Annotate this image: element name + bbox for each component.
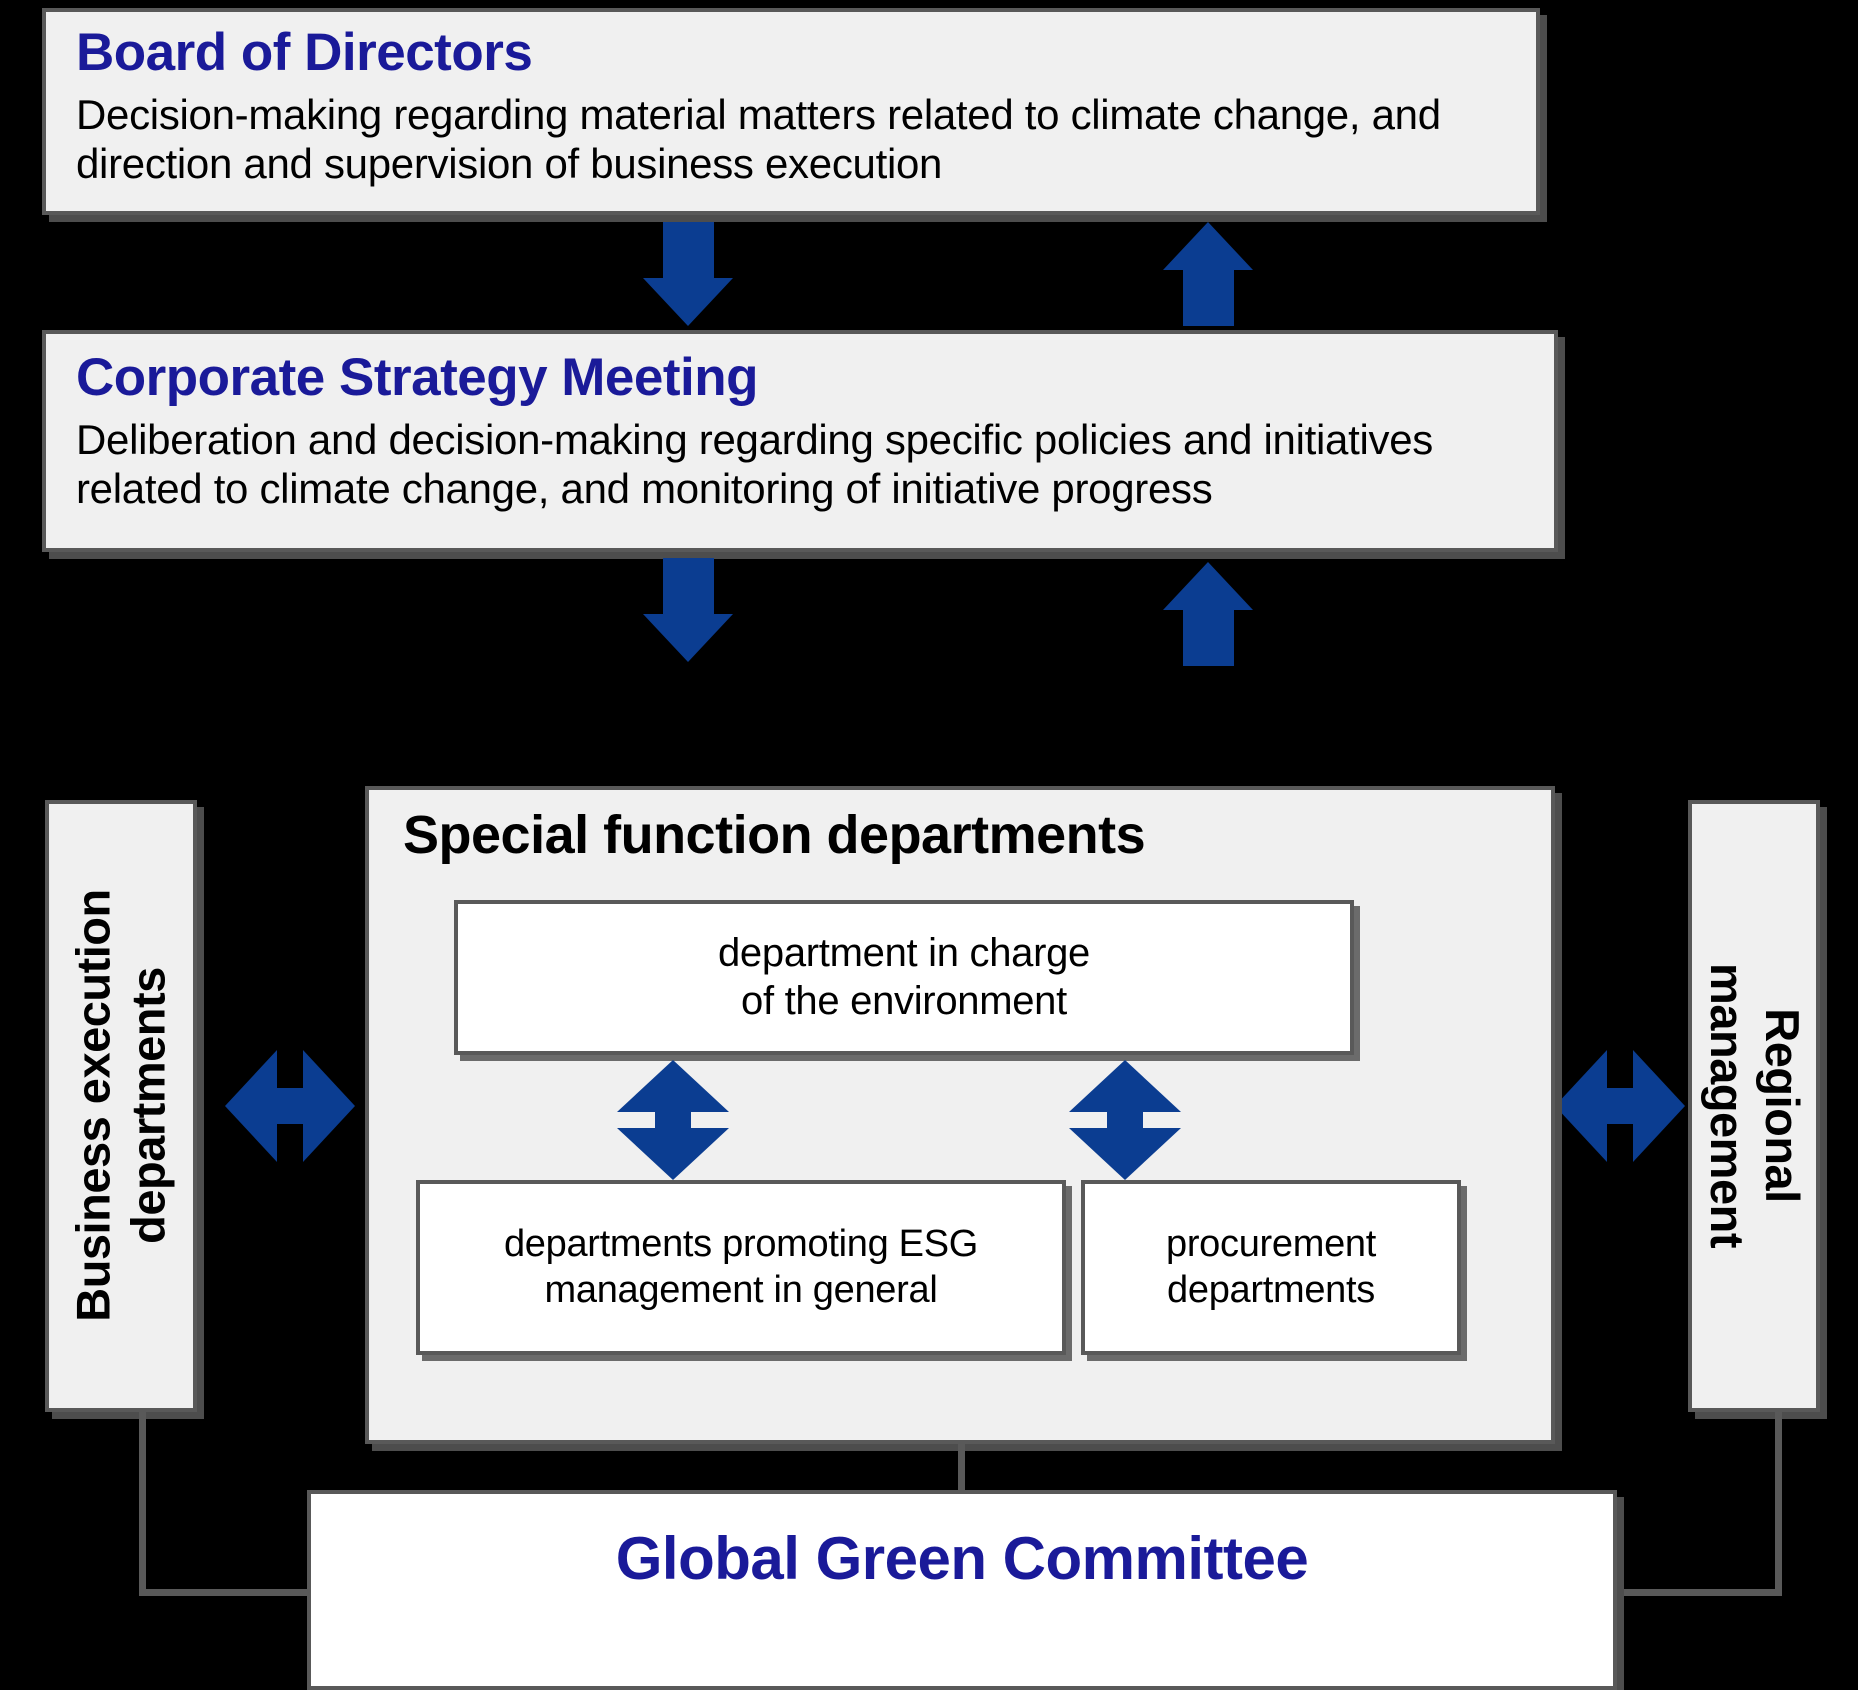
corporate-strategy-meeting-description: Deliberation and decision-making regardi…	[76, 416, 1556, 513]
arrow-right-head	[1633, 1050, 1685, 1162]
global-green-committee-heading: Global Green Committee	[311, 1528, 1613, 1589]
arrow-down-head	[1069, 1128, 1181, 1180]
board-of-directors-description: Decision-making regarding material matte…	[76, 91, 1526, 188]
connector-right-vertical	[1775, 1412, 1782, 1596]
corporate-strategy-meeting-heading: Corporate Strategy Meeting	[76, 351, 758, 405]
business-execution-departments-label: Business executiondepartments	[66, 890, 175, 1322]
environment-department-box: department in chargeof the environment	[454, 900, 1354, 1055]
arrow-up-special-to-csm-shaft	[1183, 608, 1234, 666]
global-green-committee-box: Global Green Committee	[307, 1490, 1617, 1690]
double-arrow-horizontal-left-icon	[225, 1050, 355, 1162]
connector-center-vertical	[958, 1444, 965, 1494]
environment-department-label: department in chargeof the environment	[718, 930, 1090, 1024]
double-arrow-vertical-esg-icon	[617, 1060, 729, 1180]
double-arrow-horizontal-right-icon	[1555, 1050, 1685, 1162]
regional-management-panel: Regionalmanagement	[1688, 800, 1820, 1412]
board-of-directors-heading: Board of Directors	[76, 26, 532, 80]
arrow-down-board-to-csm-head	[643, 278, 733, 326]
double-arrow-vertical-procurement-icon	[1069, 1060, 1181, 1180]
arrow-down-csm-to-special-shaft	[663, 558, 714, 616]
connector-left-vertical	[139, 1412, 146, 1596]
corporate-strategy-meeting-box: Corporate Strategy Meeting Deliberation …	[42, 330, 1558, 552]
arrow-down-board-to-csm-shaft	[663, 222, 714, 280]
business-execution-text-wrap: Business executiondepartments	[49, 804, 193, 1408]
regional-management-text-wrap: Regionalmanagement	[1692, 804, 1816, 1408]
arrow-up-csm-to-board-head	[1163, 222, 1253, 270]
connector-right-horizontal	[1612, 1589, 1782, 1596]
arrow-down-head	[617, 1128, 729, 1180]
esg-departments-label: departments promoting ESGmanagement in g…	[504, 1222, 978, 1313]
arrow-up-special-to-csm-head	[1163, 562, 1253, 610]
special-function-departments-box: Special function departments department …	[365, 786, 1555, 1444]
regional-management-label: Regionalmanagement	[1699, 964, 1808, 1249]
arrow-right-head	[303, 1050, 355, 1162]
special-function-departments-heading: Special function departments	[403, 804, 1145, 866]
board-of-directors-box: Board of Directors Decision-making regar…	[42, 8, 1540, 215]
business-execution-departments-panel: Business executiondepartments	[45, 800, 197, 1412]
diagram-canvas: Board of Directors Decision-making regar…	[0, 0, 1858, 1636]
arrow-up-csm-to-board-shaft	[1183, 268, 1234, 326]
esg-departments-box: departments promoting ESGmanagement in g…	[416, 1180, 1066, 1355]
procurement-departments-box: procurementdepartments	[1081, 1180, 1461, 1355]
arrow-down-csm-to-special-head	[643, 614, 733, 662]
procurement-departments-label: procurementdepartments	[1166, 1222, 1376, 1313]
connector-left-horizontal	[139, 1589, 314, 1596]
